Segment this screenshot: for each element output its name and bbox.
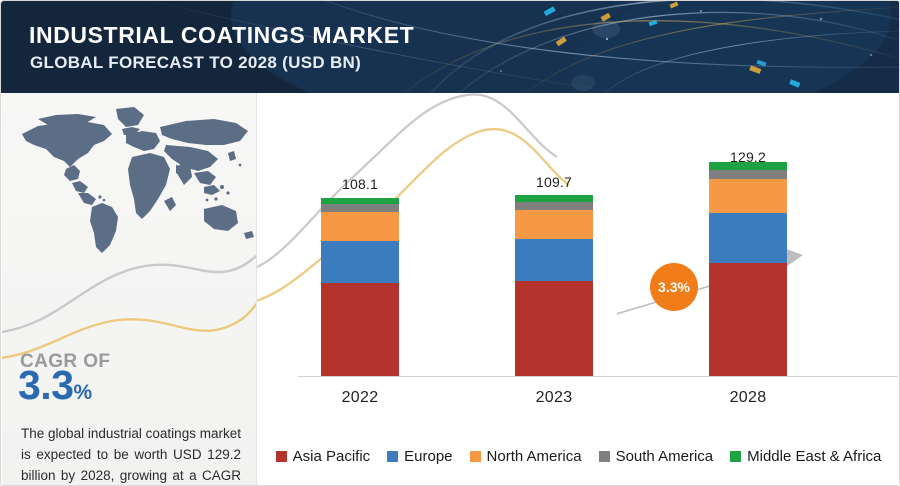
left-summary-panel: CAGR OF 3.3% The global industrial coati… [2,93,256,485]
legend-label: Europe [404,448,452,465]
segment-europe [515,239,593,281]
legend-item-middle-east-africa[interactable]: Middle East & Africa [730,448,881,465]
legend-item-north-america[interactable]: North America [470,448,582,465]
segment-asia-pacific [709,263,787,376]
segment-south-america [515,202,593,210]
cagr-callout-badge: 3.3% [650,263,698,311]
x-axis-label-2028: 2028 [688,389,808,407]
chart-legend: Asia Pacific Europe North America South … [257,441,900,471]
header-banner: INDUSTRIAL COATINGS MARKET GLOBAL FORECA… [1,1,900,93]
bar-stack-2022 [321,198,399,376]
segment-south-america [321,204,399,212]
legend-item-south-america[interactable]: South America [599,448,714,465]
segment-asia-pacific [321,283,399,376]
bar-value-label: 108.1 [305,176,415,192]
segment-south-america [709,170,787,179]
legend-swatch-icon [470,451,481,462]
cagr-percent-sign: % [74,381,93,404]
decorative-wave-lines [2,93,256,383]
infographic-page: INDUSTRIAL COATINGS MARKET GLOBAL FORECA… [0,0,900,486]
segment-north-america [321,212,399,241]
segment-north-america [515,210,593,239]
chart-container: 108.1 2022 109.7 2023 3.3% 129.2 [257,93,900,485]
segment-asia-pacific [515,281,593,376]
legend-item-asia-pacific[interactable]: Asia Pacific [276,448,371,465]
legend-swatch-icon [276,451,287,462]
page-subtitle: GLOBAL FORECAST TO 2028 (USD BN) [30,53,361,73]
segment-europe [709,213,787,263]
bar-stack-2028 [709,162,787,376]
cagr-number: 3.3 [18,362,74,408]
legend-swatch-icon [387,451,398,462]
legend-label: Middle East & Africa [747,448,881,465]
segment-middle-east-africa [515,195,593,202]
x-axis-label-2023: 2023 [494,389,614,407]
x-axis-label-2022: 2022 [300,389,420,407]
legend-swatch-icon [730,451,741,462]
summary-description: The global industrial coatings market is… [21,423,241,485]
cagr-value: 3.3% [18,365,92,406]
bar-stack-2023 [515,195,593,376]
legend-label: Asia Pacific [293,448,371,465]
legend-item-europe[interactable]: Europe [387,448,452,465]
segment-north-america [709,179,787,213]
legend-label: South America [616,448,714,465]
page-title: INDUSTRIAL COATINGS MARKET [29,22,414,49]
bar-value-label: 109.7 [499,174,609,190]
cagr-callout-text: 3.3% [658,279,690,295]
legend-swatch-icon [599,451,610,462]
segment-middle-east-africa [709,162,787,170]
legend-label: North America [487,448,582,465]
segment-europe [321,241,399,283]
chart-axis-line [298,376,898,377]
